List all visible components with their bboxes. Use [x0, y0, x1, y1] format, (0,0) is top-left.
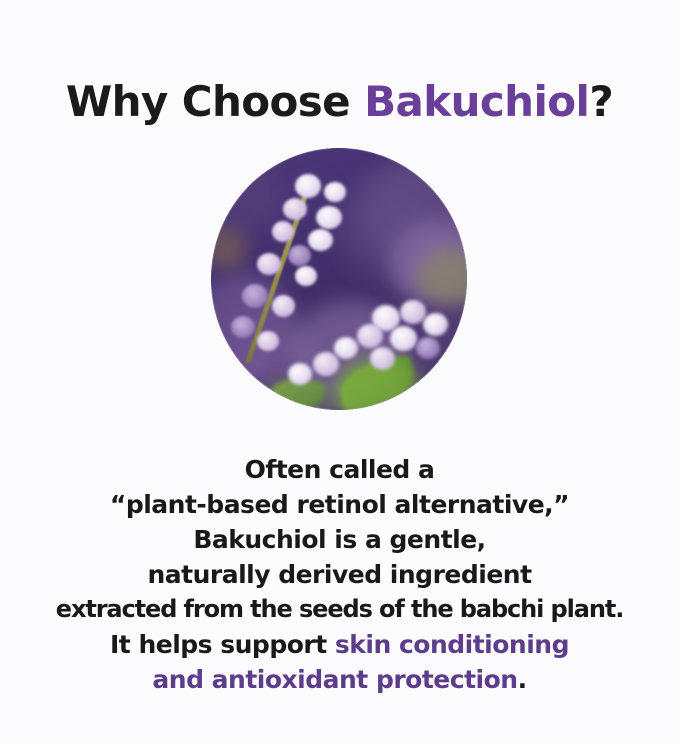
photo-floret: [257, 253, 281, 275]
description-line-7: and antioxidant protection.: [0, 662, 679, 697]
photo-floret: [295, 266, 317, 286]
description-line-6: It helps support skin conditioning: [0, 627, 679, 662]
description-text: Often called a “plant-based retinol alte…: [0, 452, 679, 697]
flower-photo: [211, 148, 467, 410]
photo-bokeh-blob: [211, 153, 283, 232]
page-title-part1: Why Choose: [66, 77, 364, 126]
photo-floret: [308, 229, 333, 251]
page-title-accent: Bakuchiol: [364, 77, 589, 126]
photo-floret: [295, 174, 321, 198]
photo-warm-highlight: [211, 227, 247, 269]
product-info-poster: Why Choose Bakuchiol?: [0, 0, 679, 744]
description-line-7-suffix: .: [518, 665, 527, 694]
photo-floret: [272, 295, 295, 317]
photo-floret: [288, 363, 312, 385]
description-line-2: “plant-based retinol alternative,”: [0, 487, 679, 522]
photo-floret: [242, 284, 268, 308]
photo-floret: [316, 206, 342, 229]
photo-floret: [283, 198, 307, 220]
description-line-1: Often called a: [0, 452, 679, 487]
description-line-5: extracted from the seeds of the babchi p…: [0, 592, 679, 627]
description-line-3: Bakuchiol is a gentle,: [0, 522, 679, 557]
photo-floret: [370, 347, 395, 370]
photo-floret: [416, 337, 440, 359]
description-line-4: naturally derived ingredient: [0, 557, 679, 592]
description-line-7-accent: and antioxidant protection: [152, 665, 517, 694]
flower-photo-container: [211, 148, 467, 410]
page-title-part2: ?: [589, 77, 613, 126]
photo-floret: [231, 316, 255, 338]
photo-floret: [324, 182, 346, 202]
photo-floret: [288, 245, 311, 266]
photo-floret: [334, 337, 358, 359]
description-line-6-prefix: It helps support: [110, 630, 335, 659]
description-line-6-accent: skin conditioning: [335, 630, 569, 659]
page-title: Why Choose Bakuchiol?: [0, 78, 679, 126]
photo-floret: [357, 324, 383, 348]
